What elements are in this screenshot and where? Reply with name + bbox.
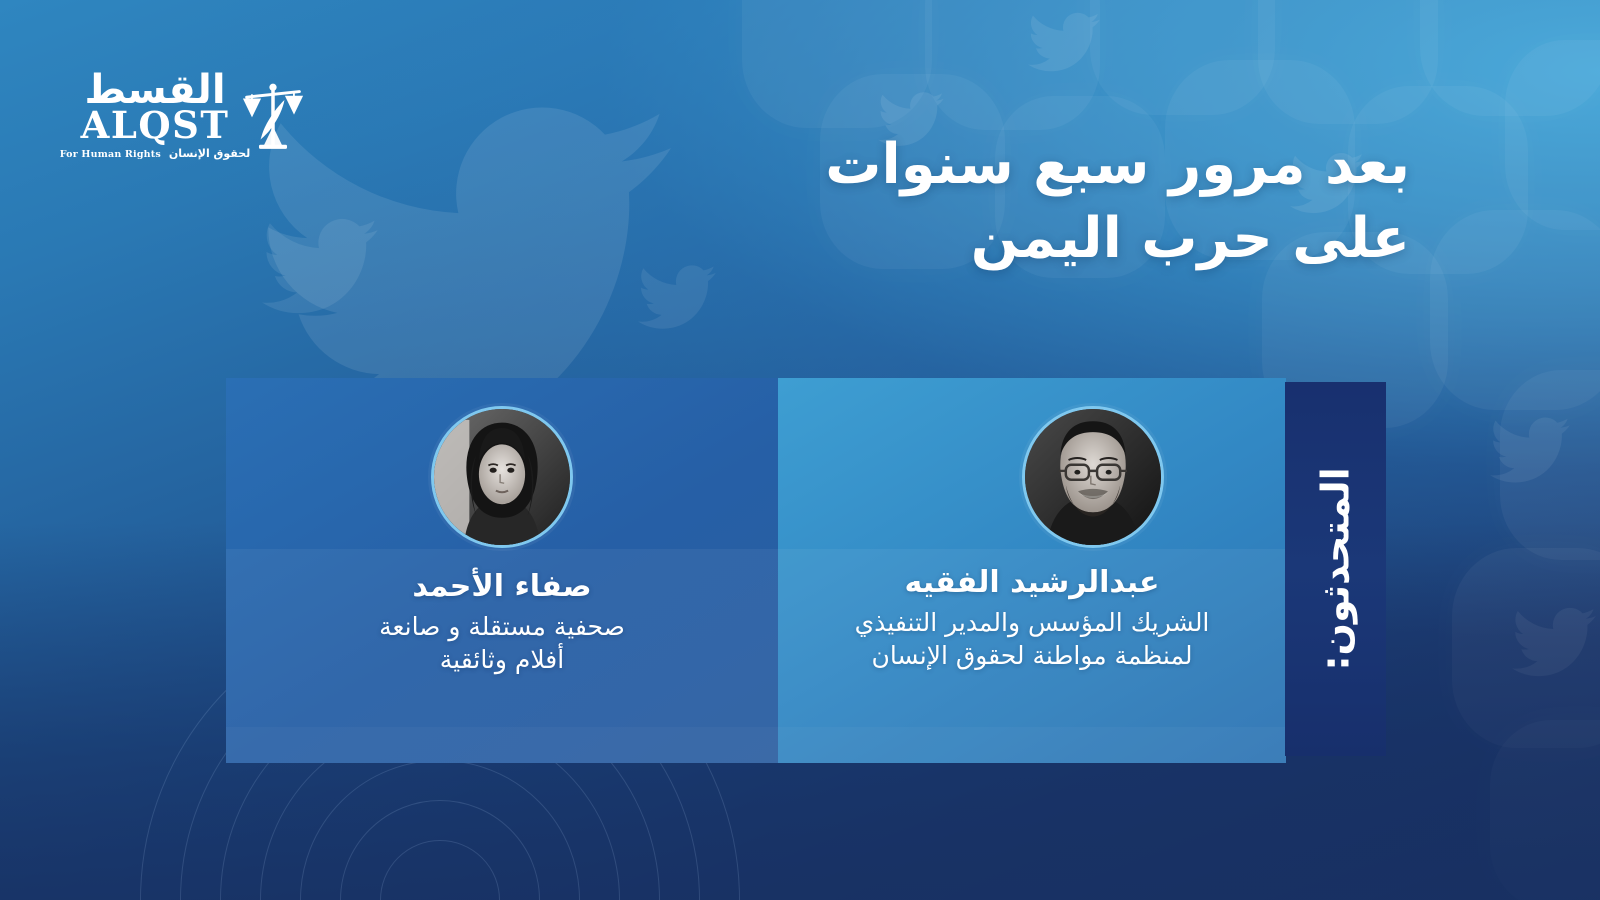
speakers-label: المتحدثون:	[1314, 467, 1358, 670]
app-icon-square	[1430, 210, 1600, 410]
app-icon-square	[1258, 0, 1438, 124]
card-footer-strip	[778, 727, 1286, 763]
speaker-role-line-1: الشريك المؤسس والمدير التنفيذي	[855, 608, 1210, 637]
speaker-card[interactable]: عبدالرشيد الفقيه الشريك المؤسس والمدير ا…	[778, 378, 1286, 763]
app-icon-square	[1452, 548, 1600, 748]
banner-canvas: القسط ALQST For Human Rights لحقوق الإنس…	[0, 0, 1600, 900]
portrait-abdulrasheed-alfaqih	[1025, 409, 1161, 545]
speaker-role-line-2: لمنظمة مواطنة لحقوق الإنسان	[871, 641, 1192, 670]
avatar	[431, 406, 573, 548]
speaker-text: صفاء الأحمد صحفية مستقلة و صانعة أفلام و…	[240, 568, 764, 676]
alqst-logo[interactable]: القسط ALQST For Human Rights لحقوق الإنس…	[80, 58, 310, 173]
app-icon-square	[925, 0, 1100, 130]
card-footer-strip	[226, 727, 778, 763]
portrait-safa-alahmad	[434, 409, 570, 545]
logo-wordmark: القسط ALQST For Human Rights لحقوق الإنس…	[80, 71, 230, 160]
app-icon-square	[742, 0, 932, 128]
speaker-name: عبدالرشيد الفقيه	[792, 564, 1272, 602]
avatar	[1022, 406, 1164, 548]
app-icon-square	[1090, 0, 1275, 115]
logo-tagline-en: For Human Rights	[60, 149, 161, 160]
speaker-role: صحفية مستقلة و صانعة أفلام وثائقية	[240, 610, 764, 676]
speaker-text: عبدالرشيد الفقيه الشريك المؤسس والمدير ا…	[792, 564, 1272, 672]
speakers-label-strip: المتحدثون:	[1285, 382, 1386, 756]
twitter-bird-icon	[1512, 600, 1596, 684]
speaker-card[interactable]: صفاء الأحمد صحفية مستقلة و صانعة أفلام و…	[226, 378, 778, 763]
app-icon-square	[1500, 370, 1600, 560]
speaker-role: الشريك المؤسس والمدير التنفيذي لمنظمة مو…	[792, 606, 1272, 672]
logo-tagline: For Human Rights لحقوق الإنسان	[80, 147, 230, 160]
scales-of-justice-with-quill-icon	[238, 77, 308, 155]
speakers-board: صفاء الأحمد صحفية مستقلة و صانعة أفلام و…	[226, 378, 1386, 763]
speaker-role-line-2: أفلام وثائقية	[440, 645, 564, 674]
speaker-name: صفاء الأحمد	[240, 568, 764, 606]
app-icon-square	[1490, 720, 1600, 900]
twitter-bird-icon	[262, 208, 378, 324]
logo-latin-name: ALQST	[80, 107, 230, 144]
title-line-1: بعد مرور سبع سنوات	[825, 132, 1410, 197]
app-icon-square	[1505, 40, 1600, 230]
title-line-2: على حرب اليمن	[670, 202, 1410, 276]
app-icon-square	[1420, 0, 1600, 116]
page-title: بعد مرور سبع سنوات على حرب اليمن	[670, 128, 1410, 277]
twitter-bird-icon	[1490, 410, 1570, 490]
twitter-bird-icon	[1028, 6, 1100, 78]
speaker-role-line-1: صحفية مستقلة و صانعة	[379, 612, 625, 641]
